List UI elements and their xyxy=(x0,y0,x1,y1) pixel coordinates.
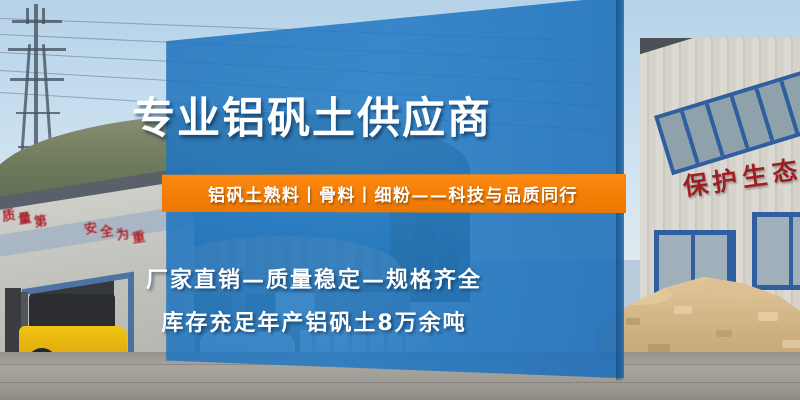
window xyxy=(752,212,800,290)
product-tagline: 铝矾土熟料丨骨料丨细粉——科技与品质同行 xyxy=(160,174,626,213)
subtitle-line-1: 厂家直销—质量稳定—规格齐全 xyxy=(0,262,628,294)
wall-sign-char: 重 xyxy=(131,226,147,247)
wall-sign-char: 安 xyxy=(83,217,99,238)
building-sign-char: 生 xyxy=(740,155,770,194)
wall-sign-char: 为 xyxy=(115,223,131,244)
building-sign-char: 态 xyxy=(770,150,800,189)
page-title: 专业铝矾土供应商 xyxy=(0,84,624,146)
building-sign-char: 护 xyxy=(710,160,740,199)
wall-sign-char: 全 xyxy=(99,220,115,241)
wall-sign-char: 量 xyxy=(17,207,33,228)
building-sign-char: 保 xyxy=(681,164,711,203)
wall-sign-char: 质 xyxy=(1,204,17,225)
wall-sign-char: 第 xyxy=(33,210,49,231)
subtitle-line-2: 库存充足年产铝矾土8万余吨 xyxy=(0,305,628,337)
promotional-banner: 质 量 第 安 全 为 重 保 xyxy=(0,0,800,400)
